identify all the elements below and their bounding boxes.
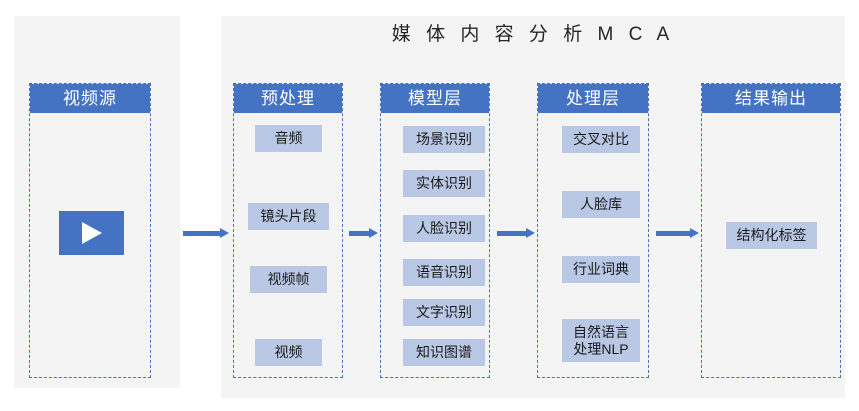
chip-output-structured-tags[interactable]: 结构化标签 xyxy=(726,222,817,249)
stage-header-model-layer: 模型层 xyxy=(381,84,489,113)
chip-process-cross-comparison[interactable]: 交叉对比 xyxy=(562,126,640,153)
chip-preprocess-audio[interactable]: 音频 xyxy=(255,125,322,152)
chip-model-knowledge-graph[interactable]: 知识图谱 xyxy=(403,339,485,366)
arrow-head-icon xyxy=(690,228,699,238)
chip-model-scene-recognition[interactable]: 场景识别 xyxy=(403,126,485,153)
arrow-head-icon xyxy=(526,228,535,238)
arrow-head-icon xyxy=(369,228,378,238)
arrow-model-to-process xyxy=(497,228,535,238)
chip-model-face-recognition[interactable]: 人脸识别 xyxy=(403,215,485,242)
diagram-title: 媒 体 内 容 分 析 M C A xyxy=(221,18,845,52)
stage-header-processing-layer: 处理层 xyxy=(538,84,648,113)
chip-process-face-database[interactable]: 人脸库 xyxy=(562,191,640,218)
play-button-icon[interactable] xyxy=(59,211,124,255)
arrow-video-to-preprocess xyxy=(183,228,229,238)
chip-preprocess-video[interactable]: 视频 xyxy=(255,339,322,366)
chip-preprocess-video-frame[interactable]: 视频帧 xyxy=(250,266,327,293)
arrow-shaft xyxy=(349,231,369,236)
chip-process-nlp[interactable]: 自然语言 处理NLP xyxy=(562,319,640,362)
stage-header-preprocess: 预处理 xyxy=(234,84,342,113)
arrow-process-to-output xyxy=(656,228,699,238)
stage-header-video-source: 视频源 xyxy=(30,84,150,113)
arrow-head-icon xyxy=(220,228,229,238)
chip-model-entity-recognition[interactable]: 实体识别 xyxy=(403,170,485,197)
chip-model-speech-recognition[interactable]: 语音识别 xyxy=(403,259,485,286)
chip-preprocess-shot-segment[interactable]: 镜头片段 xyxy=(248,203,329,230)
play-triangle-icon xyxy=(82,222,102,244)
diagram-canvas: 媒 体 内 容 分 析 M C A 视频源 预处理 音频 镜头片段 视频帧 视频… xyxy=(0,0,859,411)
chip-process-industry-dictionary[interactable]: 行业词典 xyxy=(562,256,640,283)
arrow-shaft xyxy=(183,231,220,236)
arrow-shaft xyxy=(656,231,690,236)
arrow-shaft xyxy=(497,231,526,236)
arrow-preprocess-to-model xyxy=(349,228,378,238)
stage-header-result-output: 结果输出 xyxy=(702,84,840,113)
chip-model-text-recognition[interactable]: 文字识别 xyxy=(403,299,485,326)
